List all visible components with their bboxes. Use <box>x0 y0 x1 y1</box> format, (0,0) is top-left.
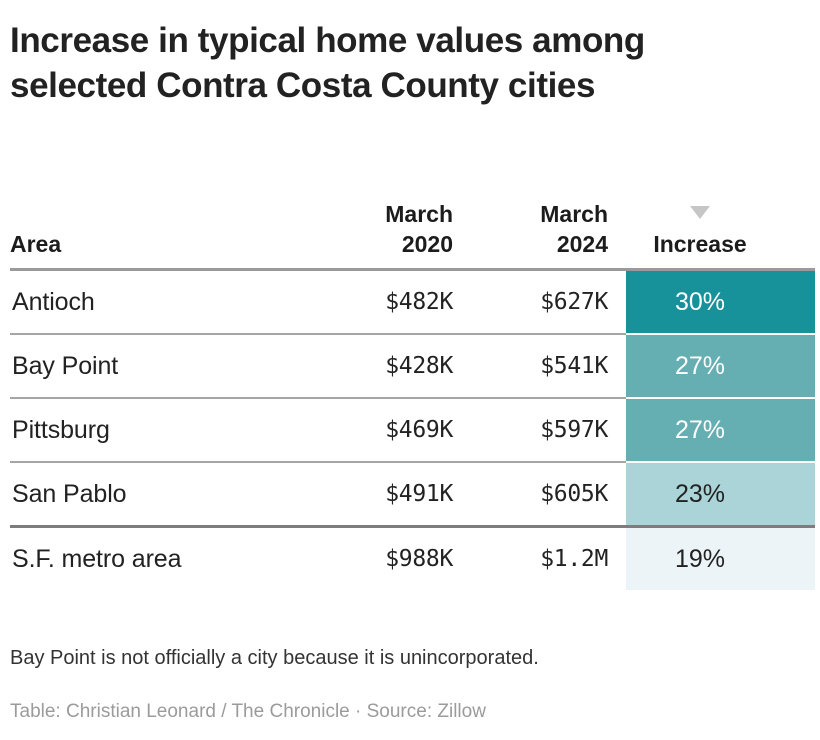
sort-descending-triangle-icon[interactable] <box>690 206 710 219</box>
cell-march-2024: $605K <box>471 463 626 525</box>
cell-area: S.F. metro area <box>10 528 316 590</box>
cell-march-2024: $1.2M <box>471 528 626 590</box>
table-row: Antioch$482K$627K30% <box>10 271 815 333</box>
cell-march-2020: $428K <box>316 335 471 397</box>
cell-area: Pittsburg <box>10 399 316 461</box>
table-row: Bay Point$428K$541K27% <box>10 335 815 397</box>
cell-march-2020: $988K <box>316 528 471 590</box>
cell-march-2024: $541K <box>471 335 626 397</box>
cell-area: San Pablo <box>10 463 316 525</box>
cell-march-2020: $482K <box>316 271 471 333</box>
page-title: Increase in typical home values among se… <box>10 0 810 108</box>
footnote: Bay Point is not officially a city becau… <box>10 645 539 671</box>
cell-march-2020: $469K <box>316 399 471 461</box>
cell-area: Bay Point <box>10 335 316 397</box>
table-graphic: Increase in typical home values among se… <box>0 0 820 740</box>
column-header-area[interactable]: Area <box>10 229 316 268</box>
column-header-increase[interactable]: Increase <box>626 206 815 268</box>
table-body: Antioch$482K$627K30%Bay Point$428K$541K2… <box>10 271 815 590</box>
cell-march-2024: $627K <box>471 271 626 333</box>
column-header-march-2020[interactable]: March 2020 <box>316 199 471 268</box>
source-credit: Table: Christian Leonard / The Chronicle… <box>10 700 486 724</box>
cell-march-2020: $491K <box>316 463 471 525</box>
table-row: S.F. metro area$988K$1.2M19% <box>10 528 815 590</box>
table-row: San Pablo$491K$605K23% <box>10 463 815 525</box>
table-header-row: Area March 2020 March 2024 Increase <box>10 178 815 268</box>
cell-march-2024: $597K <box>471 399 626 461</box>
cell-area: Antioch <box>10 271 316 333</box>
table-row: Pittsburg$469K$597K27% <box>10 399 815 461</box>
column-header-march-2024[interactable]: March 2024 <box>471 199 626 268</box>
data-table: Area March 2020 March 2024 Increase Anti… <box>10 178 815 590</box>
